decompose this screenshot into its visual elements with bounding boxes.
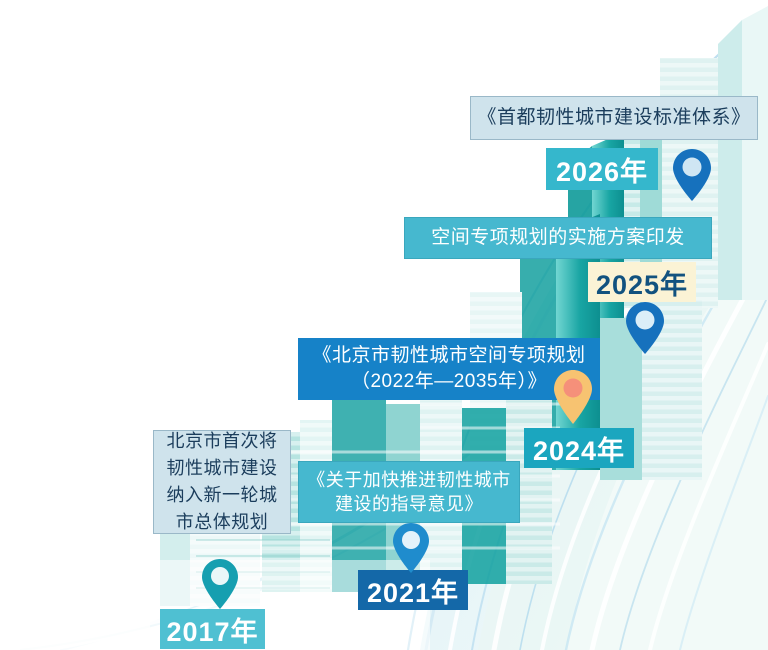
milestone-card-2021: 《关于加快推进韧性城市 建设的指导意见》: [298, 461, 520, 523]
milestone-card-2017: 北京市首次将 韧性城市建设 纳入新一轮城 市总体规划: [153, 430, 291, 534]
timeline-infographic: 《首都韧性城市建设标准体系》 2026年 空间专项规划的实施方案印发 2025年…: [0, 0, 768, 650]
milestone-card-2026: 《首都韧性城市建设标准体系》: [470, 96, 758, 140]
year-chip-2017: 2017年: [160, 609, 265, 649]
year-chip-2025: 2025年: [588, 262, 696, 302]
year-chip-2021: 2021年: [358, 570, 468, 610]
year-chip-2026: 2026年: [546, 148, 658, 190]
milestone-card-2025: 空间专项规划的实施方案印发: [404, 217, 712, 259]
year-chip-2024: 2024年: [524, 428, 634, 468]
map-pin-icon-2025: [624, 300, 666, 356]
milestone-card-2024: 《北京市韧性城市空间专项规划 （2022年—2035年）》: [298, 338, 600, 400]
map-pin-icon-2021: [391, 521, 431, 575]
map-pin-icon-2017: [200, 557, 240, 611]
map-pin-icon-2026: [671, 147, 713, 203]
